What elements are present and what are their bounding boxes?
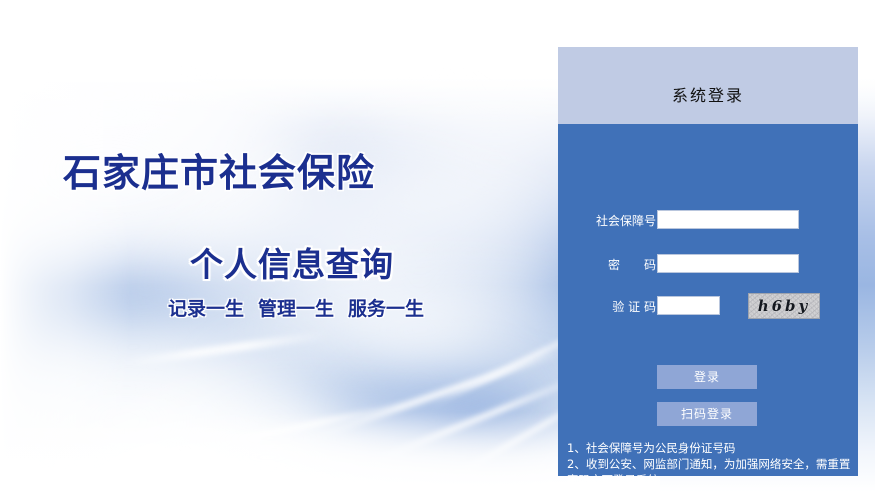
slogan-part-3: 服务一生 <box>348 298 424 320</box>
captcha-label: 验 证 码 <box>572 298 656 315</box>
qr-login-button[interactable]: 扫码登录 <box>657 402 757 426</box>
captcha-input[interactable] <box>657 296 720 315</box>
slogan: 记录一生管理一生服务一生 <box>168 294 424 321</box>
password-label: 密 码 <box>572 256 656 273</box>
slogan-part-2: 管理一生 <box>258 298 334 320</box>
social-security-number-input[interactable] <box>657 210 799 229</box>
field-row-password: 密 码 ： <box>558 254 858 276</box>
login-panel-header: 系统登录 <box>558 47 858 124</box>
social-security-number-label: 社会保障号 <box>572 212 656 229</box>
field-row-social-security-number: 社会保障号 ： <box>558 210 858 232</box>
slogan-part-1: 记录一生 <box>168 298 244 320</box>
notice-line-2: 2、收到公安、网监部门通知，为加强网络安全，需重置密码方可登录系统 <box>567 456 855 488</box>
banner-text-group: 石家庄市社会保险 个人信息查询 记录一生管理一生服务一生 <box>0 0 560 492</box>
notice-line-1: 1、社会保障号为公民身份证号码 <box>567 440 855 456</box>
login-panel-body: 社会保障号 ： 密 码 ： 验 证 码 ： h6by 登录 扫码登录 1、社会 <box>558 124 858 476</box>
login-panel: 系统登录 社会保障号 ： 密 码 ： 验 证 码 ： h6by <box>558 47 858 476</box>
field-row-captcha: 验 证 码 ： h6by <box>558 296 858 318</box>
login-button[interactable]: 登录 <box>657 365 757 389</box>
login-panel-title: 系统登录 <box>558 82 858 106</box>
password-input[interactable] <box>657 254 799 273</box>
page-title: 石家庄市社会保险 <box>63 142 375 197</box>
page-subtitle: 个人信息查询 <box>190 238 394 286</box>
login-page: 石家庄市社会保险 个人信息查询 记录一生管理一生服务一生 系统登录 社会保障号 … <box>0 0 875 492</box>
captcha-image[interactable]: h6by <box>748 293 820 319</box>
